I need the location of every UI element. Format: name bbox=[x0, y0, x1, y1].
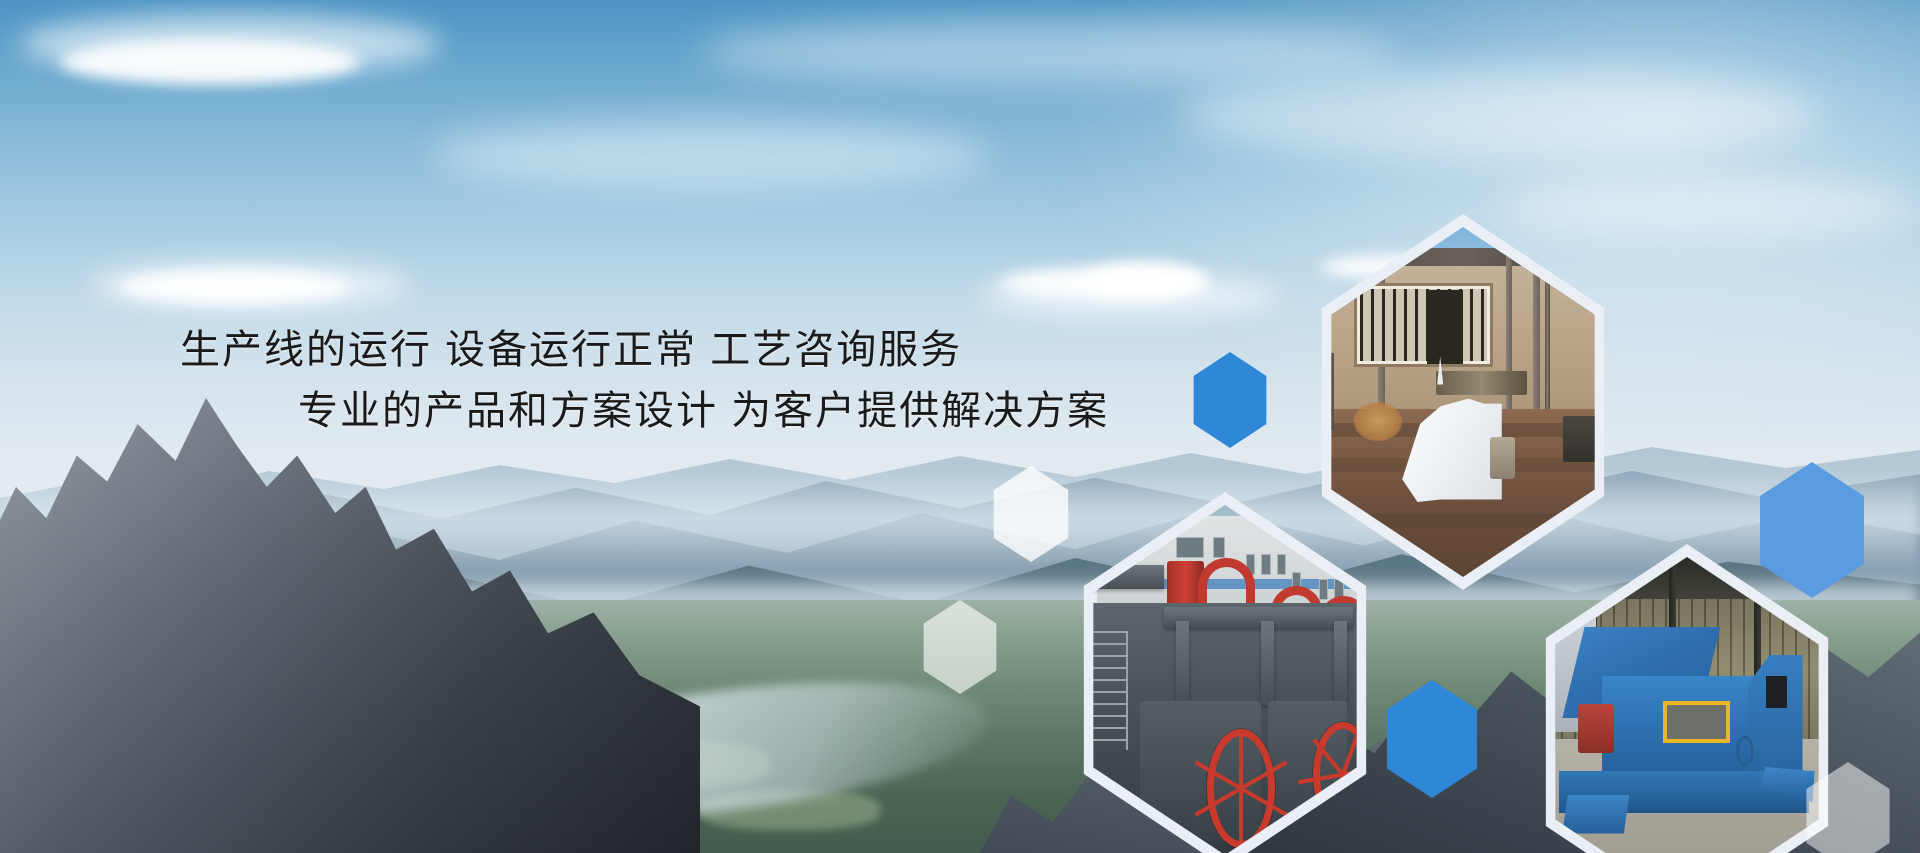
headline-block: 生产线的运行 设备运行正常 工艺咨询服务 专业的产品和方案设计 为客户提供解决方… bbox=[180, 320, 1140, 442]
cloud-shape bbox=[1180, 70, 1820, 158]
press-handwheel bbox=[1207, 729, 1276, 848]
headline-line-1: 生产线的运行 设备运行正常 工艺咨询服务 bbox=[180, 320, 1140, 381]
cloud-shape bbox=[90, 262, 410, 308]
cloud-shape bbox=[700, 20, 1400, 84]
cloud-shape bbox=[980, 276, 1280, 316]
headline-line-2: 专业的产品和方案设计 为客户提供解决方案 bbox=[180, 381, 1140, 442]
cloud-shape bbox=[1500, 180, 1920, 234]
hero-banner: 生产线的运行 设备运行正常 工艺咨询服务 专业的产品和方案设计 为客户提供解决方… bbox=[0, 0, 1920, 853]
cloud-shape bbox=[430, 120, 990, 190]
cloud-shape bbox=[20, 14, 440, 74]
